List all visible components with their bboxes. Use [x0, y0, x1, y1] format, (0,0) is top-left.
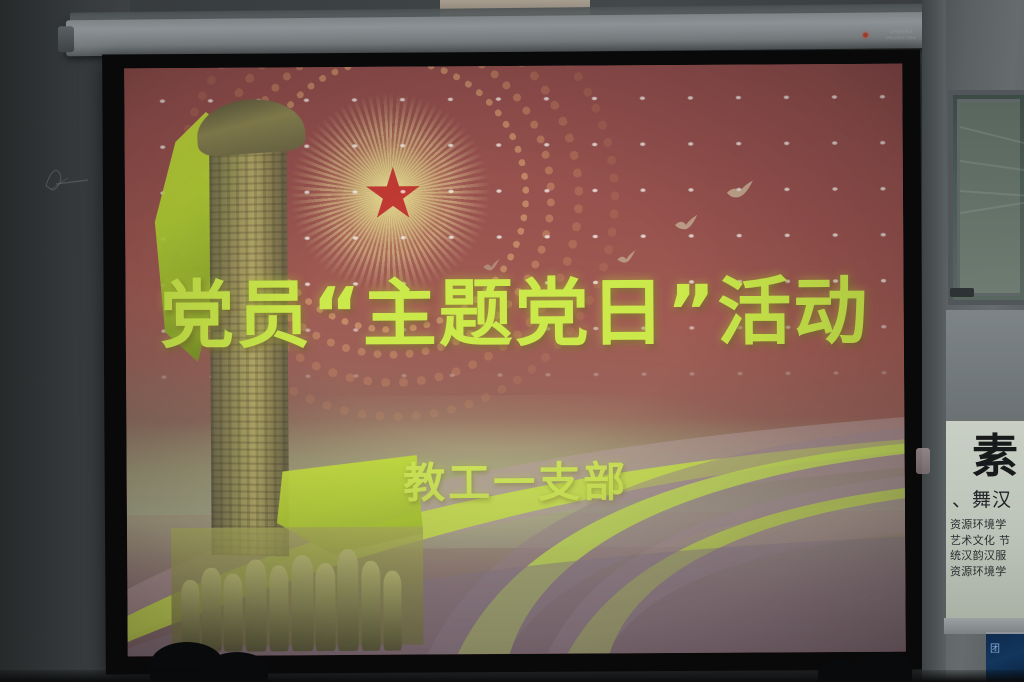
dove-icon [673, 211, 699, 235]
poster-body-line: 统汉韵汉服 [950, 548, 1024, 564]
presentation-slide[interactable]: 党员“主题党日”活动 教工一支部 [124, 64, 906, 657]
housing-end-cap-left [58, 26, 74, 52]
slide-subtitle: 教工一支部 [127, 447, 905, 513]
window[interactable] [948, 90, 1024, 305]
monument-graphic [142, 75, 416, 657]
power-led-icon [863, 33, 868, 38]
poster-headline: 素 [972, 433, 1018, 479]
poster-body-line: 艺术文化 节 [950, 533, 1024, 549]
wall-panel-lower [946, 310, 1024, 418]
poster-body-line: 资源环境学 [950, 517, 1024, 533]
monument-column-cap [195, 96, 307, 158]
dove-icon [725, 177, 755, 203]
foreground-shadow [0, 670, 1024, 682]
slide-title: 党员“主题党日”活动 [125, 252, 904, 364]
housing-brand-label: CHEERS PROJECTION [886, 29, 916, 42]
window-pane [957, 99, 1020, 296]
wall-scuff-mark [38, 160, 90, 200]
wall-poster: 素 、舞汉 资源环境学 艺术文化 节 统汉韵汉服 资源环境学 [946, 418, 1024, 626]
housing-sub-text: PROJECTION [886, 35, 916, 40]
wall-pillar [922, 0, 946, 682]
poster-subline: 、舞汉 [952, 485, 1012, 512]
wall-fixture [916, 448, 930, 474]
poster-body: 资源环境学 艺术文化 节 统汉韵汉服 资源环境学 [950, 517, 1024, 579]
projector-screen[interactable]: 党员“主题党日”活动 教工一支部 [102, 50, 924, 675]
classroom-scene: CHEERS PROJECTION [0, 0, 1024, 682]
poster-body-line: 资源环境学 [950, 564, 1024, 580]
window-handle[interactable] [950, 288, 974, 297]
